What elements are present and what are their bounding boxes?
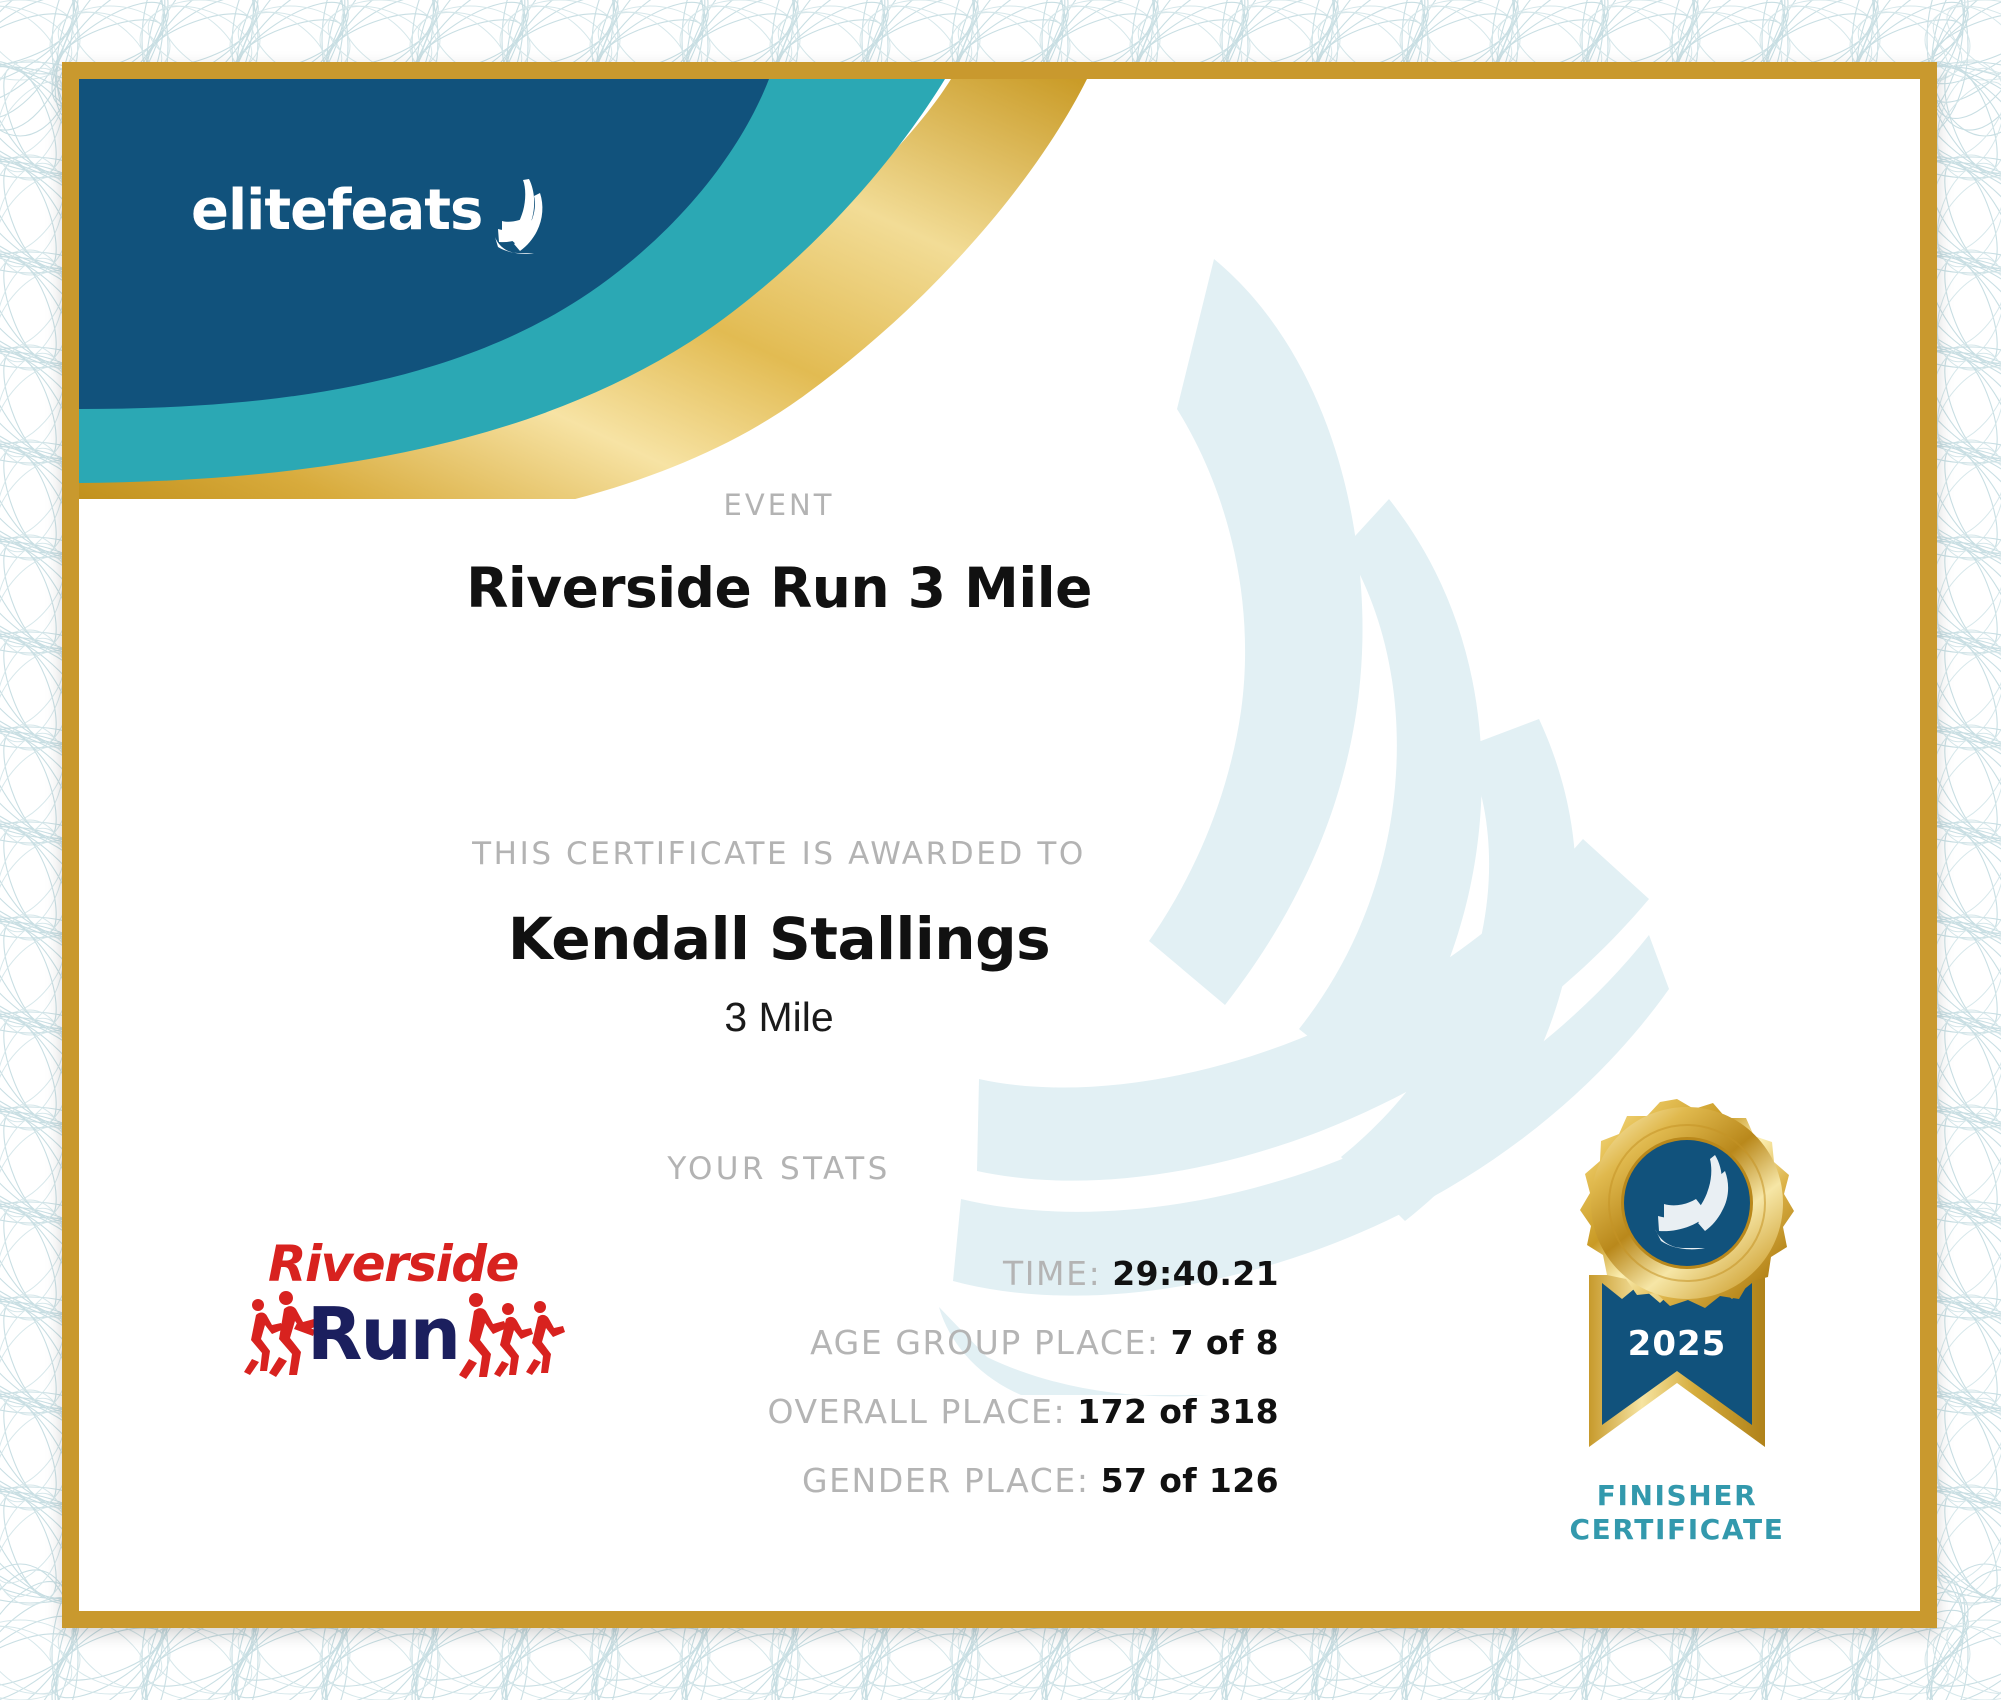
event-title: Riverside Run 3 Mile [229, 556, 1329, 620]
stat-value: 172 of 318 [1077, 1392, 1279, 1431]
runner-silhouette-icon [459, 1293, 565, 1379]
certificate-body: elitefeats EVENT Riverside Run 3 Mile TH… [79, 79, 1920, 1611]
stat-key: GENDER PLACE: [802, 1461, 1090, 1500]
seal-caption: FINISHER CERTIFICATE [1527, 1479, 1827, 1548]
stat-value: 57 of 126 [1101, 1461, 1279, 1500]
riverside-run-logo: Riverside Run [234, 1219, 574, 1399]
stat-value: 29:40.21 [1112, 1254, 1279, 1293]
recipient-name: Kendall Stallings [229, 905, 1329, 973]
svg-text:Riverside: Riverside [268, 1235, 518, 1293]
certificate-page: elitefeats EVENT Riverside Run 3 Mile TH… [0, 0, 2001, 1700]
stat-key: OVERALL PLACE: [768, 1392, 1067, 1431]
certificate-gold-frame: elitefeats EVENT Riverside Run 3 Mile TH… [62, 62, 1937, 1628]
awarded-to-label: THIS CERTIFICATE IS AWARDED TO [239, 836, 1319, 872]
finisher-seal: 2025 [1527, 1087, 1827, 1577]
stat-value: 7 of 8 [1171, 1323, 1279, 1362]
stat-row-gender-place: GENDER PLACE: 57 of 126 [219, 1461, 1279, 1530]
stat-key: AGE GROUP PLACE: [810, 1323, 1160, 1362]
your-stats-label: YOUR STATS [239, 1151, 1319, 1187]
stat-row-overall-place: OVERALL PLACE: 172 of 318 [219, 1392, 1279, 1461]
seal-caption-line1: FINISHER [1527, 1479, 1827, 1513]
stat-key: TIME: [1003, 1254, 1101, 1293]
finisher-medal-icon: 2025 [1527, 1087, 1827, 1487]
event-label: EVENT [279, 488, 1279, 522]
distance-subtitle: 3 Mile [229, 994, 1329, 1041]
svg-text:Run: Run [307, 1292, 459, 1376]
seal-year: 2025 [1628, 1324, 1727, 1364]
seal-caption-line2: CERTIFICATE [1527, 1513, 1827, 1547]
